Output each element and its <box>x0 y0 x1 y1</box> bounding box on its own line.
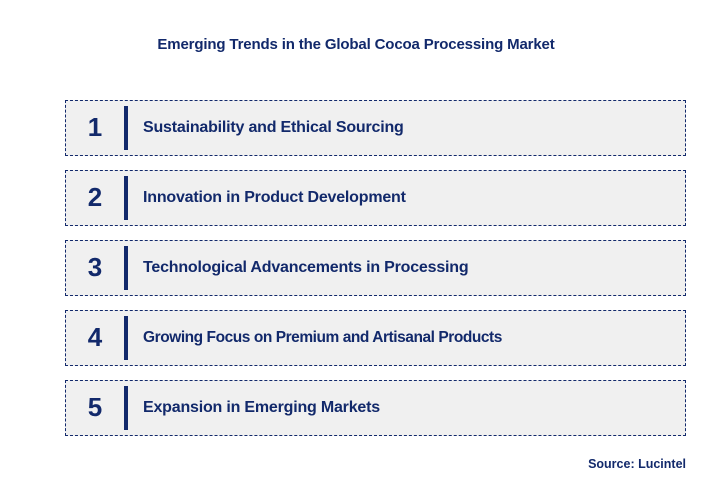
page-title: Emerging Trends in the Global Cocoa Proc… <box>0 36 712 53</box>
trend-item-1[interactable]: 1 Sustainability and Ethical Sourcing <box>65 100 686 156</box>
trend-label: Innovation in Product Development <box>128 189 685 207</box>
trend-number: 2 <box>66 184 124 212</box>
trend-number: 1 <box>66 114 124 142</box>
trend-item-5[interactable]: 5 Expansion in Emerging Markets <box>65 380 686 436</box>
trend-number: 3 <box>66 254 124 282</box>
trend-item-2[interactable]: 2 Innovation in Product Development <box>65 170 686 226</box>
trend-label: Growing Focus on Premium and Artisanal P… <box>128 329 685 347</box>
trend-number: 5 <box>66 394 124 422</box>
trend-item-4[interactable]: 4 Growing Focus on Premium and Artisanal… <box>65 310 686 366</box>
trend-label: Sustainability and Ethical Sourcing <box>128 119 685 137</box>
trend-label: Expansion in Emerging Markets <box>128 399 685 417</box>
trend-list: 1 Sustainability and Ethical Sourcing 2 … <box>65 100 686 436</box>
trend-label: Technological Advancements in Processing <box>128 259 685 277</box>
infographic-page: Emerging Trends in the Global Cocoa Proc… <box>0 0 712 501</box>
trend-number: 4 <box>66 324 124 352</box>
trend-item-3[interactable]: 3 Technological Advancements in Processi… <box>65 240 686 296</box>
source-label: Source: Lucintel <box>588 457 686 471</box>
